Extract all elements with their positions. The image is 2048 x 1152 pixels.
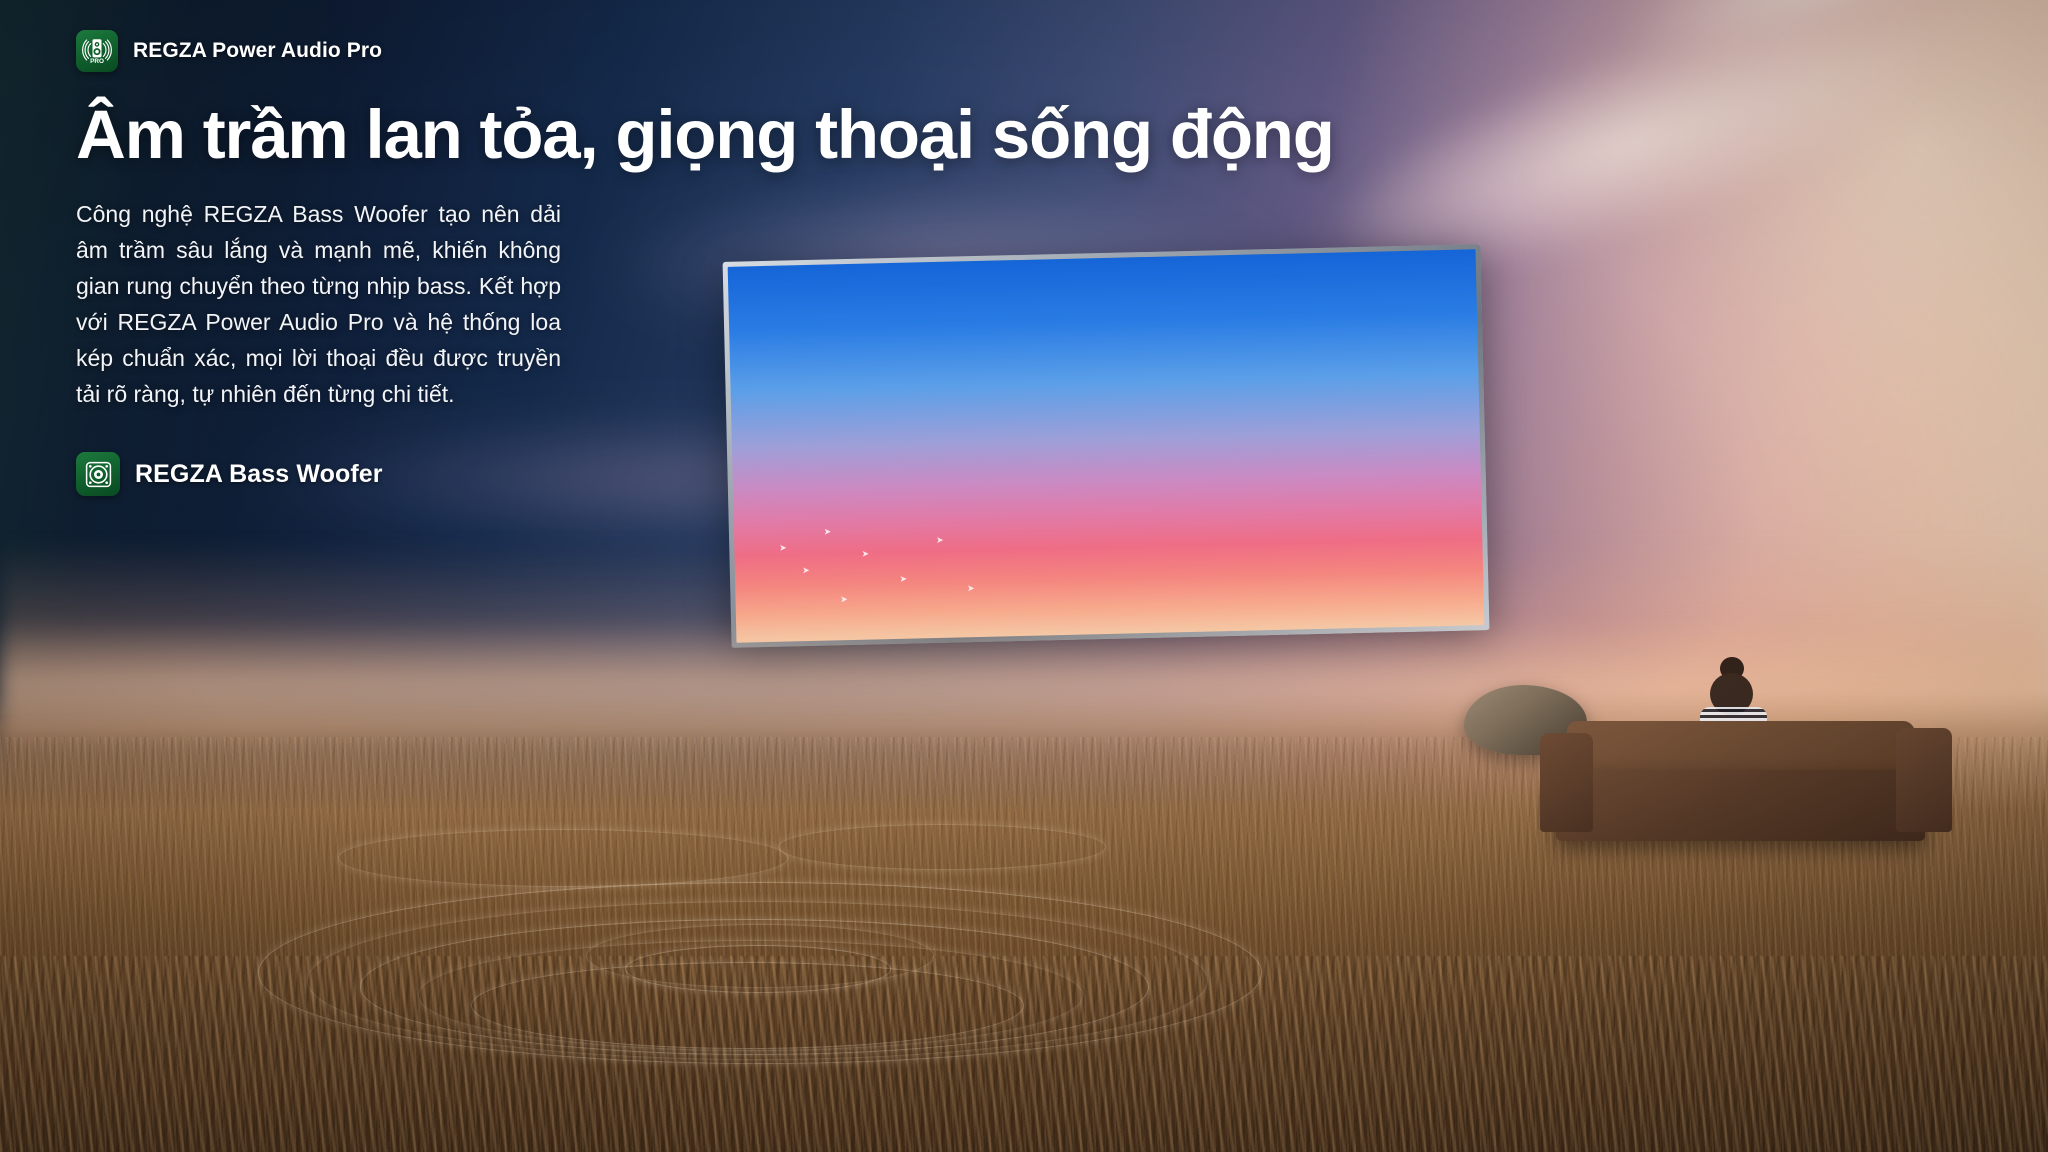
speaker-pro-icon: PRO — [76, 30, 118, 72]
tv-screen-content: ➤ ➤ ➤ ➤ ➤ ➤ ➤ ➤ — [728, 250, 1484, 643]
tv-panel: ➤ ➤ ➤ ➤ ➤ ➤ ➤ ➤ — [723, 245, 1490, 649]
badge-power-audio-pro: PRO REGZA Power Audio Pro — [76, 30, 640, 72]
page-title: Âm trầm lan tỏa, giọng thoại sống động — [76, 98, 640, 171]
marketing-banner: ➤ ➤ ➤ ➤ ➤ ➤ ➤ ➤ — [0, 0, 2048, 1152]
body-paragraph: Công nghệ REGZA Bass Woofer tạo nên dải … — [76, 197, 561, 412]
sofa-seat — [1556, 770, 1925, 841]
badge-power-audio-pro-label: REGZA Power Audio Pro — [133, 39, 382, 63]
woofer-driver-icon — [76, 452, 120, 496]
sofa-arm-right — [1896, 728, 1951, 832]
sofa-arm-left — [1540, 733, 1593, 832]
text-content-block: PRO REGZA Power Audio Pro Âm trầm lan tỏ… — [0, 0, 640, 496]
foreground-grass — [0, 956, 2048, 1152]
badge-bass-woofer-label: REGZA Bass Woofer — [135, 460, 383, 489]
pro-icon-text: PRO — [90, 58, 104, 65]
tv-bezel: ➤ ➤ ➤ ➤ ➤ ➤ ➤ ➤ — [723, 245, 1490, 649]
badge-bass-woofer: REGZA Bass Woofer — [76, 452, 640, 496]
